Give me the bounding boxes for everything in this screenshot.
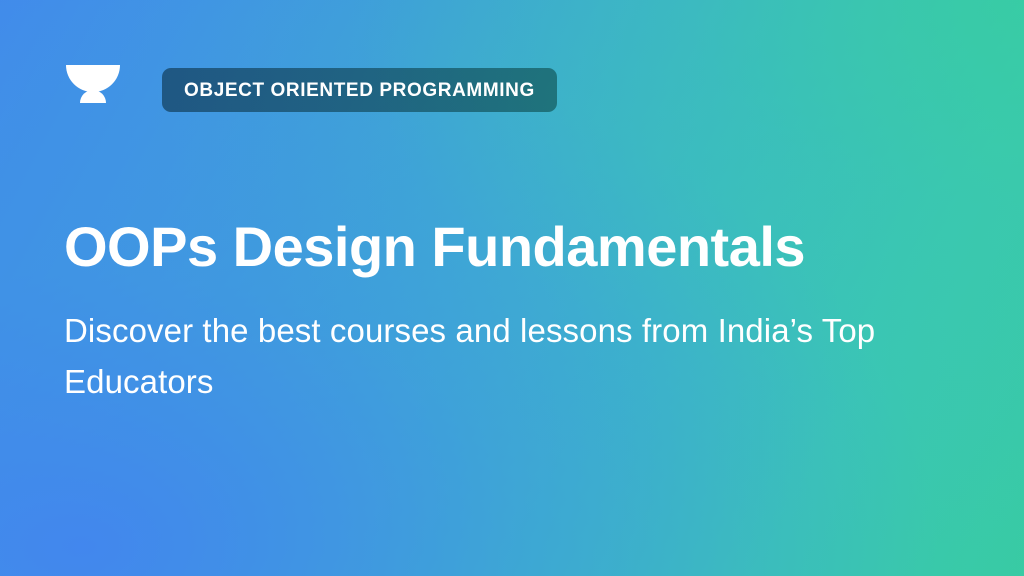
banner-title: OOPs Design Fundamentals — [64, 216, 974, 279]
course-banner: OBJECT ORIENTED PROGRAMMING OOPs Design … — [0, 0, 1024, 576]
unacademy-logo-icon — [64, 62, 122, 118]
banner-header-row: OBJECT ORIENTED PROGRAMMING — [64, 62, 557, 118]
banner-subtitle: Discover the best courses and lessons fr… — [64, 305, 964, 408]
banner-content: OBJECT ORIENTED PROGRAMMING OOPs Design … — [0, 0, 1024, 576]
category-badge-label: OBJECT ORIENTED PROGRAMMING — [184, 81, 535, 100]
category-badge: OBJECT ORIENTED PROGRAMMING — [162, 68, 557, 112]
headline-block: OOPs Design Fundamentals Discover the be… — [64, 216, 974, 408]
